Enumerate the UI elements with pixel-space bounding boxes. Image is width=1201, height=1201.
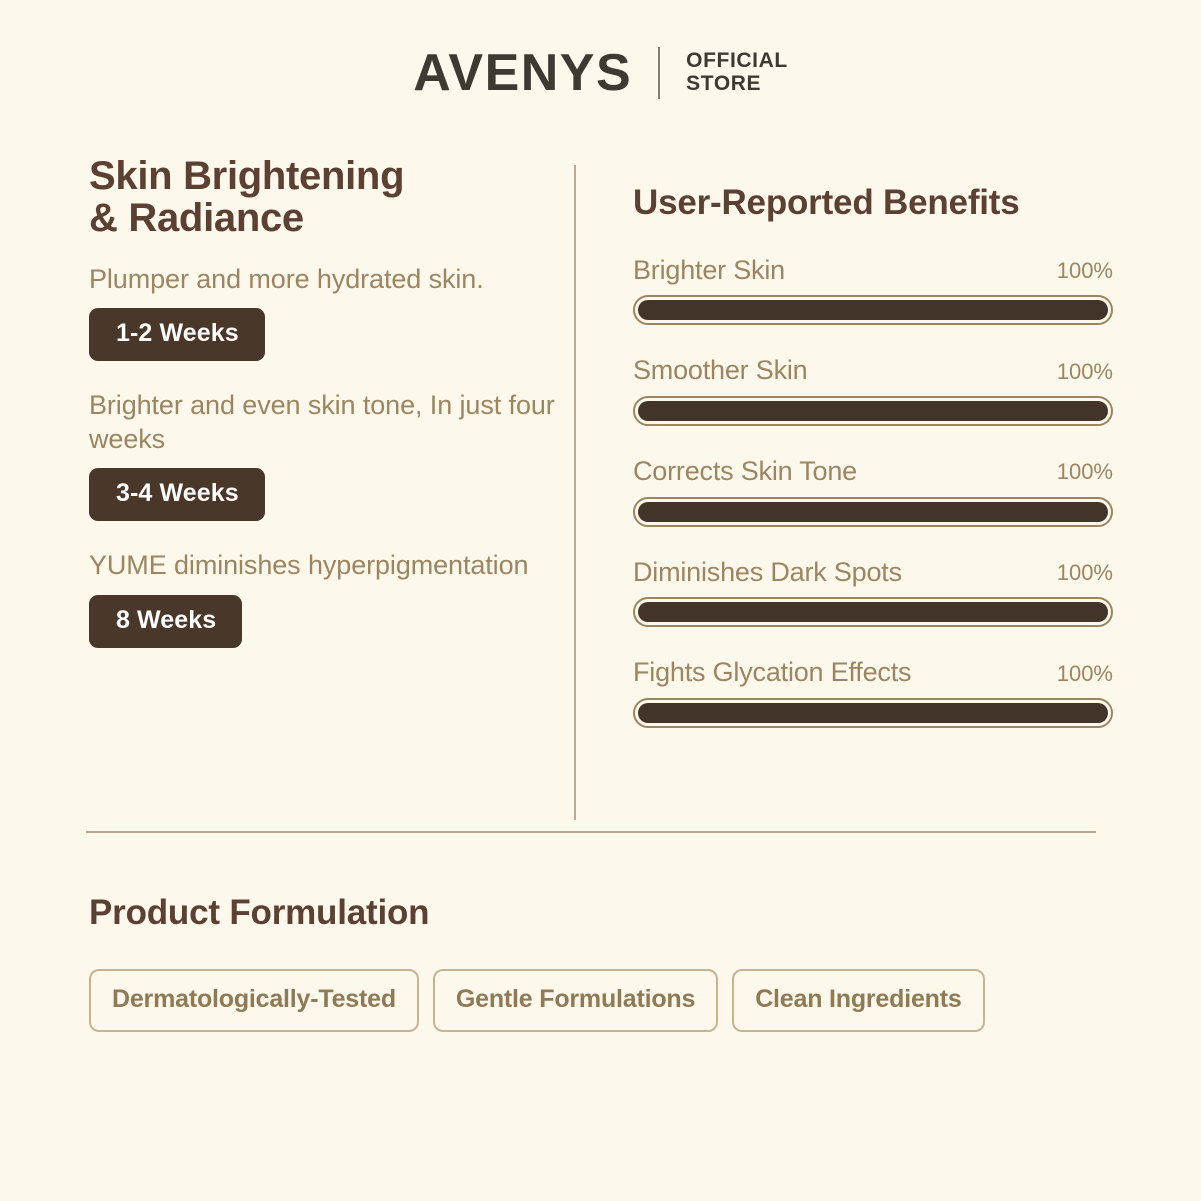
formulation-chip: Gentle Formulations bbox=[433, 969, 718, 1032]
benefit-row: Brighter Skin 100% bbox=[633, 256, 1113, 326]
left-panel-title-line2: & Radiance bbox=[89, 197, 559, 239]
phase-duration-badge: 1-2 Weeks bbox=[89, 308, 265, 361]
benefit-progress-fill bbox=[638, 602, 1108, 622]
benefit-header: Smoother Skin 100% bbox=[633, 356, 1113, 386]
benefit-progress-track bbox=[633, 396, 1113, 426]
phase-description: YUME diminishes hyperpigmentation bbox=[89, 548, 559, 582]
vertical-divider-icon bbox=[658, 47, 660, 99]
benefit-percent: 100% bbox=[1057, 360, 1113, 386]
benefit-percent: 100% bbox=[1057, 259, 1113, 285]
brand-subtitle-line1: OFFICIAL bbox=[686, 50, 788, 73]
benefit-label: Corrects Skin Tone bbox=[633, 457, 857, 487]
timeline-phase: Plumper and more hydrated skin. 1-2 Week… bbox=[89, 262, 559, 361]
benefit-progress-fill bbox=[638, 502, 1108, 522]
brand-name: AVENYS bbox=[413, 47, 632, 99]
timeline-phase: Brighter and even skin tone, In just fou… bbox=[89, 388, 559, 521]
benefit-progress-track bbox=[633, 295, 1113, 325]
user-reported-benefits-panel: User-Reported Benefits Brighter Skin 100… bbox=[633, 184, 1113, 759]
benefit-percent: 100% bbox=[1057, 561, 1113, 587]
product-formulation-section: Product Formulation Dermatologically-Tes… bbox=[89, 893, 1119, 1032]
benefit-row: Corrects Skin Tone 100% bbox=[633, 457, 1113, 527]
content-columns: Skin Brightening & Radiance Plumper and … bbox=[0, 155, 1201, 825]
phase-duration-badge: 8 Weeks bbox=[89, 595, 242, 648]
benefit-progress-fill bbox=[638, 300, 1108, 320]
benefit-progress-track bbox=[633, 597, 1113, 627]
benefit-progress-track bbox=[633, 497, 1113, 527]
right-panel-title: User-Reported Benefits bbox=[633, 184, 1113, 223]
benefit-label: Brighter Skin bbox=[633, 256, 785, 286]
benefit-progress-fill bbox=[638, 703, 1108, 723]
column-divider bbox=[574, 165, 576, 820]
left-panel-title-line1: Skin Brightening bbox=[89, 155, 559, 197]
benefit-header: Diminishes Dark Spots 100% bbox=[633, 558, 1113, 588]
skin-brightening-panel: Skin Brightening & Radiance Plumper and … bbox=[89, 155, 559, 675]
benefit-label: Fights Glycation Effects bbox=[633, 658, 911, 688]
phase-description: Plumper and more hydrated skin. bbox=[89, 262, 559, 296]
benefit-progress-fill bbox=[638, 401, 1108, 421]
benefit-percent: 100% bbox=[1057, 662, 1113, 688]
benefit-row: Fights Glycation Effects 100% bbox=[633, 658, 1113, 728]
benefit-row: Smoother Skin 100% bbox=[633, 356, 1113, 426]
benefit-label: Smoother Skin bbox=[633, 356, 807, 386]
benefit-percent: 100% bbox=[1057, 460, 1113, 486]
formulation-chip: Clean Ingredients bbox=[732, 969, 984, 1032]
formulation-chips: Dermatologically-Tested Gentle Formulati… bbox=[89, 969, 1119, 1032]
phase-description: Brighter and even skin tone, In just fou… bbox=[89, 388, 559, 456]
formulation-chip: Dermatologically-Tested bbox=[89, 969, 419, 1032]
brand-subtitle: OFFICIAL STORE bbox=[686, 50, 788, 95]
benefit-row: Diminishes Dark Spots 100% bbox=[633, 558, 1113, 628]
timeline-phase: YUME diminishes hyperpigmentation 8 Week… bbox=[89, 548, 559, 648]
benefit-label: Diminishes Dark Spots bbox=[633, 558, 902, 588]
benefit-header: Corrects Skin Tone 100% bbox=[633, 457, 1113, 487]
benefit-progress-track bbox=[633, 698, 1113, 728]
infographic-page: AVENYS OFFICIAL STORE Skin Brightening &… bbox=[0, 0, 1201, 1201]
brand-header: AVENYS OFFICIAL STORE bbox=[0, 47, 1201, 99]
benefit-header: Fights Glycation Effects 100% bbox=[633, 658, 1113, 688]
benefit-header: Brighter Skin 100% bbox=[633, 256, 1113, 286]
formulation-title: Product Formulation bbox=[89, 893, 1119, 933]
brand-subtitle-line2: STORE bbox=[686, 73, 788, 96]
phase-duration-badge: 3-4 Weeks bbox=[89, 468, 265, 521]
section-divider bbox=[86, 831, 1096, 833]
left-panel-title: Skin Brightening & Radiance bbox=[89, 155, 559, 240]
